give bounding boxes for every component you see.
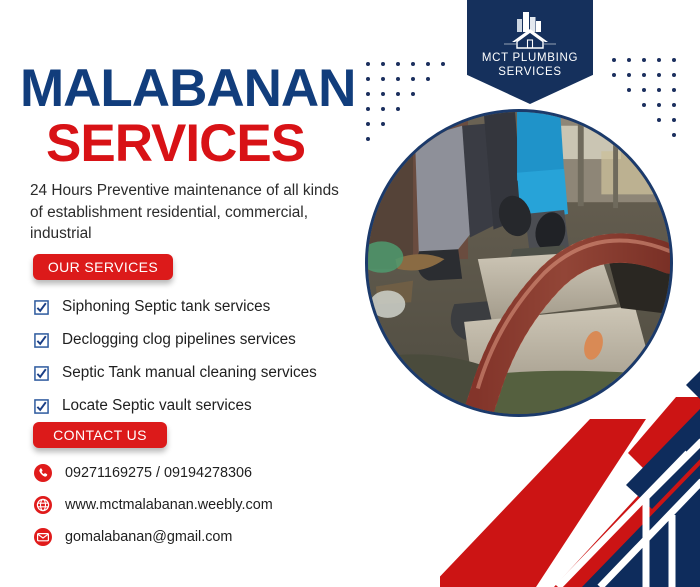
phone-icon bbox=[34, 464, 52, 482]
service-item-label: Septic Tank manual cleaning services bbox=[62, 364, 317, 382]
decorative-dot bbox=[612, 73, 616, 77]
contact-phone-value: 09271169275 / 09194278306 bbox=[65, 465, 252, 481]
decorative-dot bbox=[366, 122, 370, 126]
brand-name-line1: MCT PLUMBING bbox=[467, 51, 593, 65]
service-item: Septic Tank manual cleaning services bbox=[34, 358, 374, 388]
decorative-dot bbox=[426, 77, 430, 81]
contact-us-badge: CONTACT US bbox=[33, 422, 167, 448]
checkbox-checked-icon bbox=[34, 333, 49, 348]
decorative-dot bbox=[396, 92, 400, 96]
service-item-label: Siphoning Septic tank services bbox=[62, 298, 270, 316]
service-item-label: Locate Septic vault services bbox=[62, 397, 252, 415]
decorative-dot bbox=[672, 103, 676, 107]
service-item-label: Declogging clog pipelines services bbox=[62, 331, 296, 349]
decorative-dot bbox=[366, 137, 370, 141]
contact-item-email[interactable]: gomalabanan@gmail.com bbox=[34, 522, 374, 552]
decorative-dot bbox=[657, 103, 661, 107]
flyer-canvas: MCT PLUMBING SERVICES MALABANAN SERVICES… bbox=[0, 0, 700, 587]
decorative-dot bbox=[672, 118, 676, 122]
decorative-dot bbox=[411, 62, 415, 66]
decorative-dot bbox=[366, 107, 370, 111]
decorative-dot bbox=[642, 58, 646, 62]
decorative-dot bbox=[657, 58, 661, 62]
headline-sub: SERVICES bbox=[46, 117, 305, 171]
decorative-dot bbox=[366, 77, 370, 81]
decorative-dot bbox=[396, 77, 400, 81]
our-services-badge: OUR SERVICES bbox=[33, 254, 173, 280]
decorative-dot bbox=[627, 58, 631, 62]
decorative-dot bbox=[396, 62, 400, 66]
decorative-dot bbox=[381, 107, 385, 111]
decorative-dot bbox=[411, 77, 415, 81]
decorative-dot bbox=[657, 118, 661, 122]
decorative-dot bbox=[396, 107, 400, 111]
service-item: Siphoning Septic tank services bbox=[34, 292, 374, 322]
envelope-icon bbox=[34, 528, 52, 546]
decorative-dot bbox=[642, 103, 646, 107]
decorative-dot bbox=[381, 62, 385, 66]
decorative-dot bbox=[411, 92, 415, 96]
contact-item-phone[interactable]: 09271169275 / 09194278306 bbox=[34, 458, 374, 488]
decorative-dot bbox=[627, 73, 631, 77]
contact-item-website[interactable]: www.mctmalabanan.weebly.com bbox=[34, 490, 374, 520]
brand-name-line2: SERVICES bbox=[467, 65, 593, 80]
decorative-dot bbox=[381, 122, 385, 126]
decorative-dot bbox=[672, 88, 676, 92]
headline-main: MALABANAN bbox=[20, 62, 355, 116]
brand-logo-banner: MCT PLUMBING SERVICES bbox=[467, 0, 593, 104]
decorative-dot bbox=[657, 73, 661, 77]
checkbox-checked-icon bbox=[34, 300, 49, 315]
decorative-dot bbox=[612, 58, 616, 62]
decorative-dot bbox=[672, 58, 676, 62]
decorative-dot bbox=[642, 73, 646, 77]
service-item: Declogging clog pipelines services bbox=[34, 325, 374, 355]
services-list: Siphoning Septic tank services Decloggin… bbox=[34, 292, 374, 424]
corner-chevron-decoration bbox=[440, 357, 700, 587]
buildings-house-icon bbox=[498, 8, 562, 50]
decorative-dot bbox=[672, 73, 676, 77]
checkbox-checked-icon bbox=[34, 366, 49, 381]
decorative-dot bbox=[366, 92, 370, 96]
decorative-dot bbox=[657, 88, 661, 92]
checkbox-checked-icon bbox=[34, 399, 49, 414]
contact-website-value: www.mctmalabanan.weebly.com bbox=[65, 497, 273, 513]
contact-email-value: gomalabanan@gmail.com bbox=[65, 529, 232, 545]
decorative-dot bbox=[672, 133, 676, 137]
decorative-dot bbox=[366, 62, 370, 66]
decorative-dot bbox=[381, 77, 385, 81]
headline-tagline: 24 Hours Preventive maintenance of all k… bbox=[30, 180, 355, 245]
service-item: Locate Septic vault services bbox=[34, 391, 374, 421]
contact-list: 09271169275 / 09194278306 www.mctmalaban… bbox=[34, 458, 374, 554]
decorative-dot bbox=[426, 62, 430, 66]
decorative-dot bbox=[441, 62, 445, 66]
decorative-dot bbox=[642, 88, 646, 92]
decorative-dot bbox=[627, 88, 631, 92]
globe-icon bbox=[34, 496, 52, 514]
decorative-dot bbox=[381, 92, 385, 96]
